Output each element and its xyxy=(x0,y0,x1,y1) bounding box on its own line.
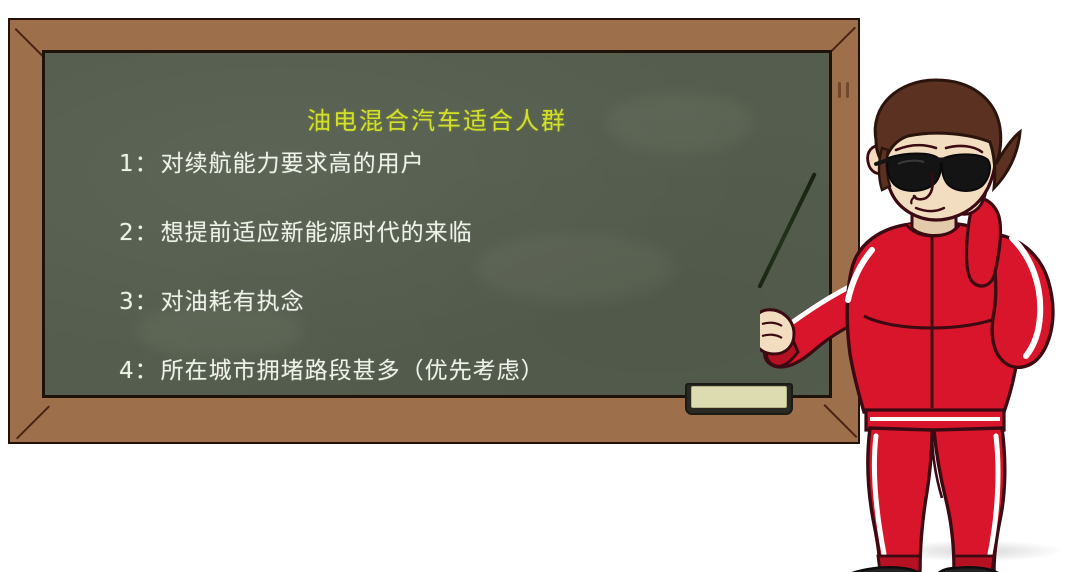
sunglasses-right-lens xyxy=(942,154,990,191)
list-item-number: 4： xyxy=(119,358,159,384)
frame-miter-bottom-left xyxy=(16,405,50,439)
blackboard-list-item: 2：想提前适应新能源时代的来临 xyxy=(119,222,759,245)
list-item-text: 对续航能力要求高的用户 xyxy=(161,151,425,177)
blackboard-title: 油电混合汽车适合人群 xyxy=(45,101,829,136)
list-item-text: 想提前适应新能源时代的来临 xyxy=(161,220,473,246)
list-item-number: 2： xyxy=(119,220,159,246)
blackboard-list: 1：对续航能力要求高的用户 2：想提前适应新能源时代的来临 3：对油耗有执念 4… xyxy=(119,153,759,398)
cartoon-presenter-character xyxy=(760,78,1080,572)
blackboard-surface: 油电混合汽车适合人群 1：对续航能力要求高的用户 2：想提前适应新能源时代的来临… xyxy=(42,50,832,398)
list-item-text: 所在城市拥堵路段甚多（优先考虑） xyxy=(161,358,545,384)
right-leg xyxy=(934,428,1005,570)
list-item-number: 1： xyxy=(119,151,159,177)
list-item-text: 对油耗有执念 xyxy=(161,289,305,315)
blackboard-list-item: 4：所在城市拥堵路段甚多（优先考虑） xyxy=(119,360,759,383)
list-item-number: 3： xyxy=(119,289,159,315)
blackboard-list-item: 3：对油耗有执念 xyxy=(119,291,759,314)
blackboard-list-item: 1：对续航能力要求高的用户 xyxy=(119,153,759,176)
illustration-stage: 油电混合汽车适合人群 1：对续航能力要求高的用户 2：想提前适应新能源时代的来临… xyxy=(0,0,1080,572)
blackboard-frame: 油电混合汽车适合人群 1：对续航能力要求高的用户 2：想提前适应新能源时代的来临… xyxy=(8,18,860,444)
left-hand-fist xyxy=(760,310,794,354)
